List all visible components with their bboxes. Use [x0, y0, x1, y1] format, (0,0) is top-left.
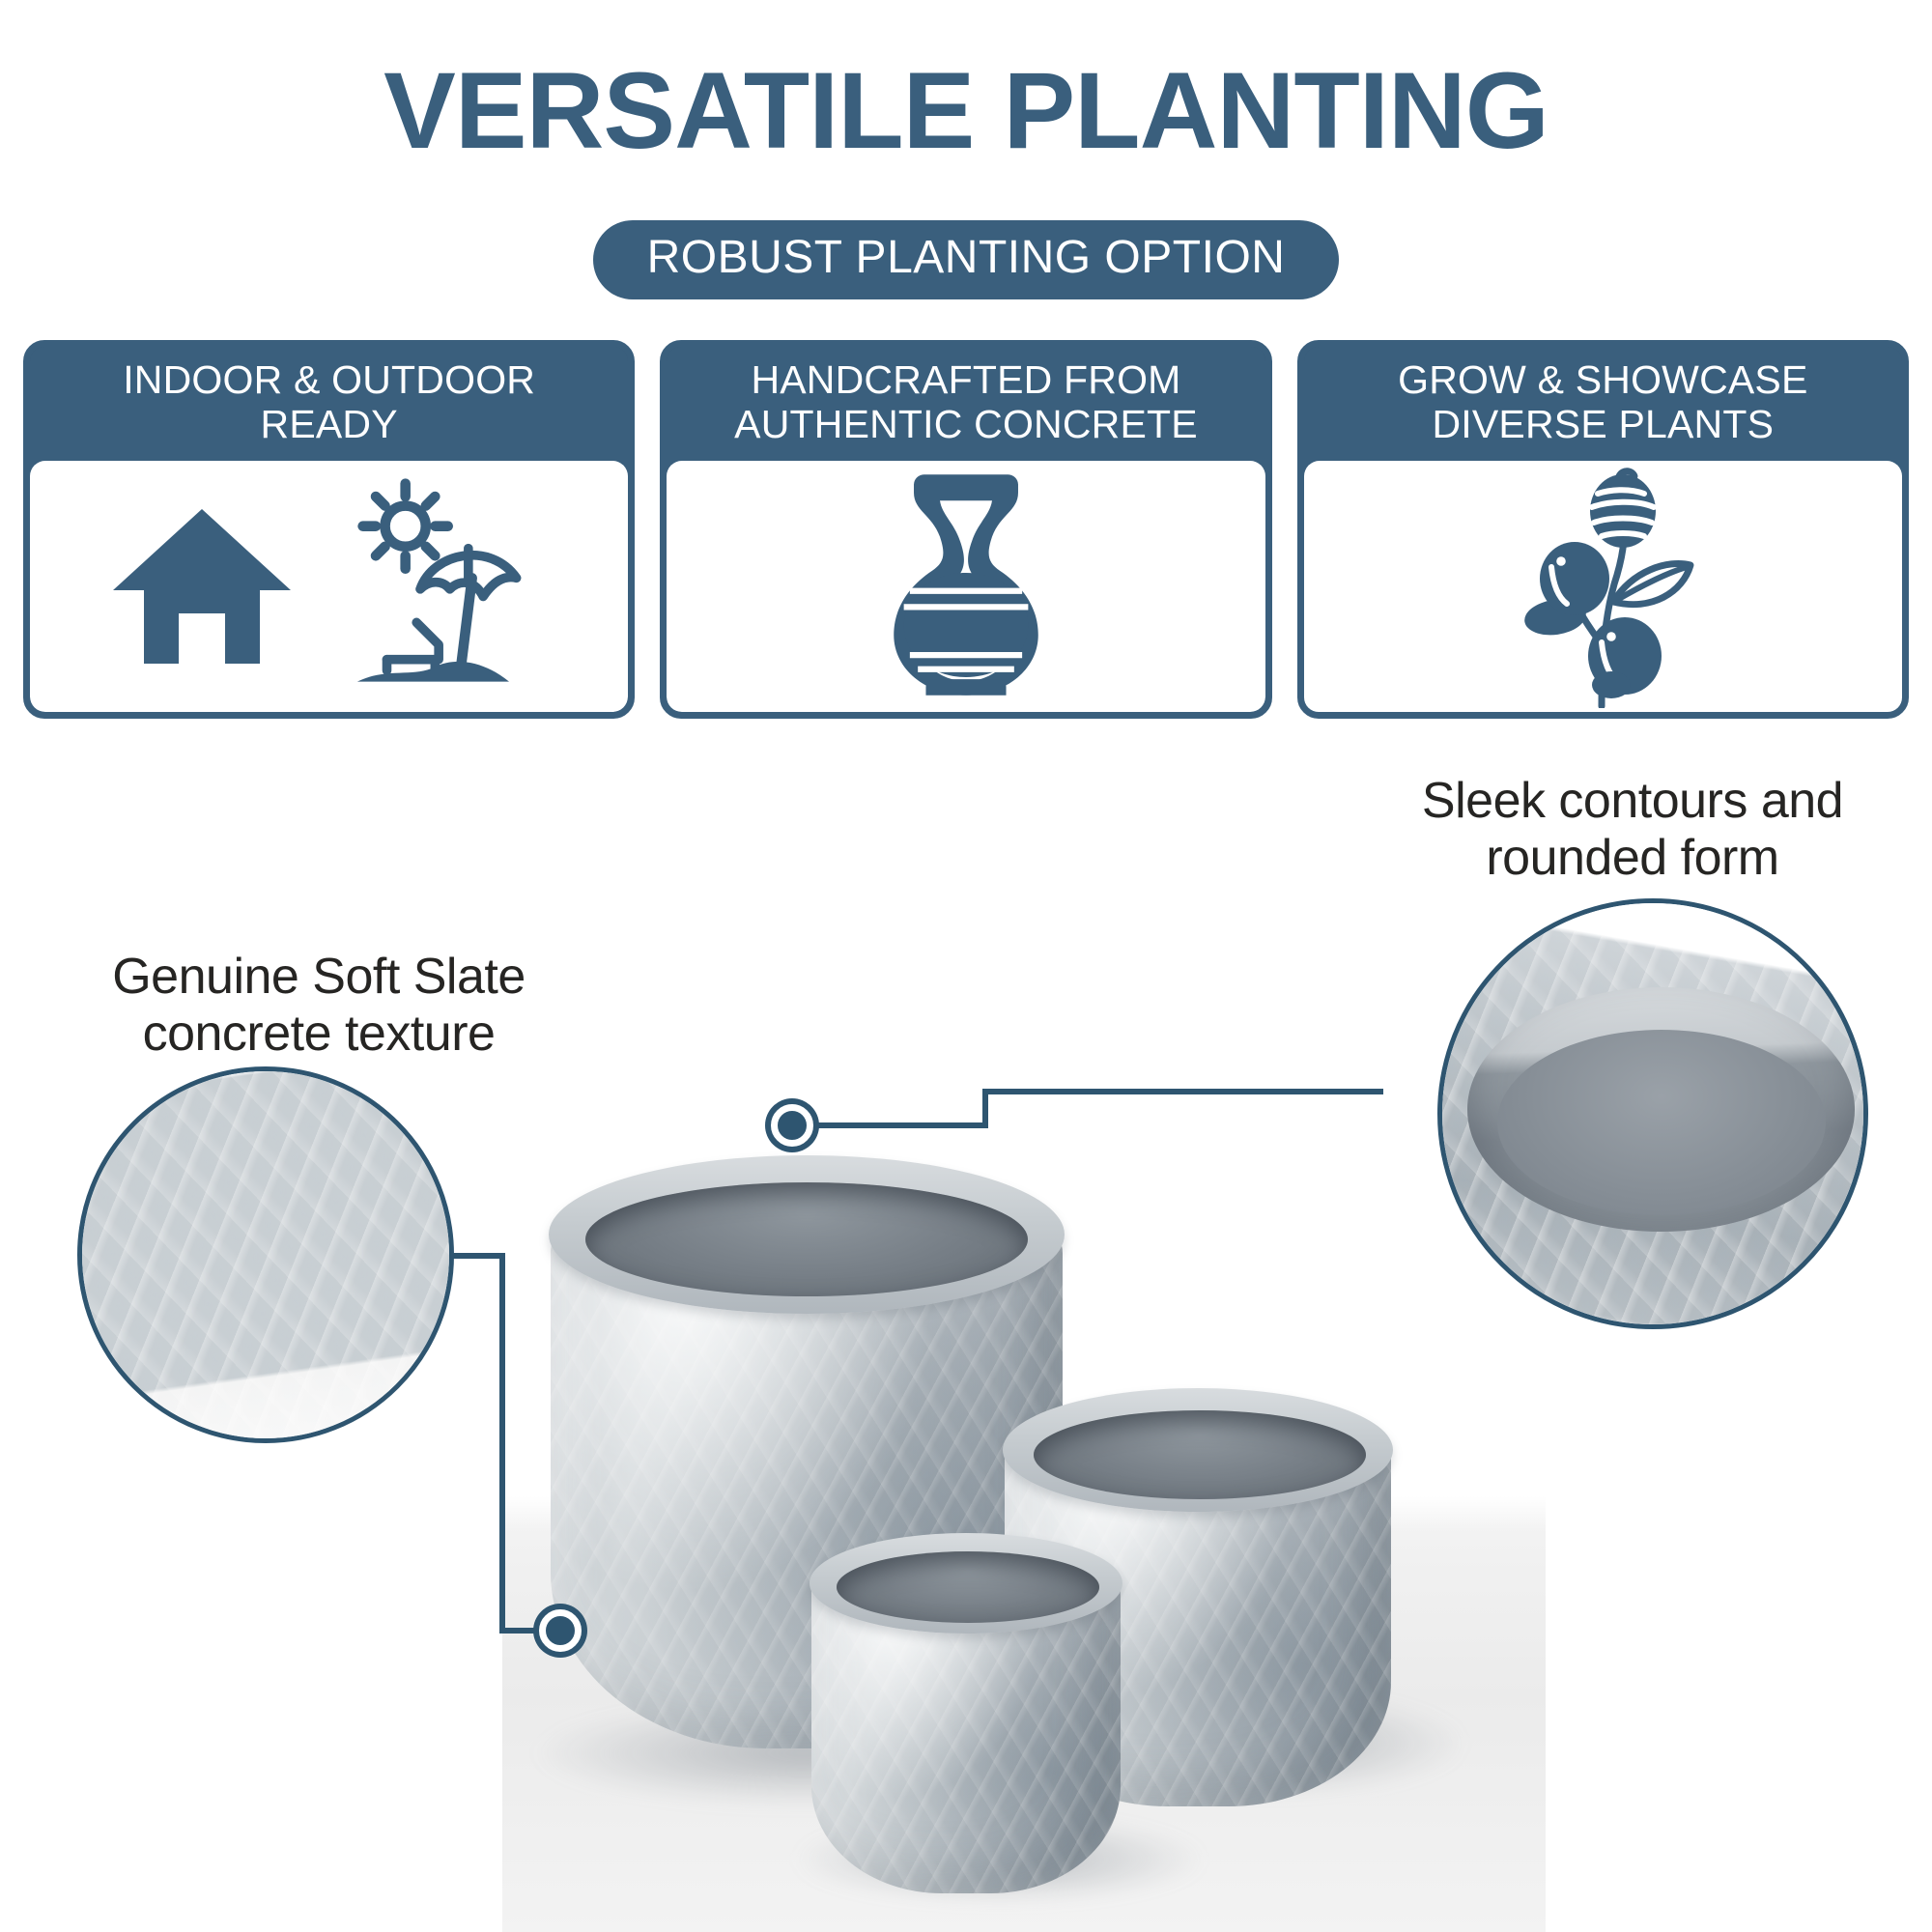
feature-title-line2: AUTHENTIC CONCRETE: [676, 403, 1255, 447]
feature-box-diverse-plants: GROW & SHOWCASE DIVERSE PLANTS: [1297, 340, 1909, 719]
feature-box-body: [1304, 461, 1902, 716]
feature-title-line2: READY: [40, 403, 618, 447]
feature-title-line2: DIVERSE PLANTS: [1314, 403, 1892, 447]
planter-small: [811, 1536, 1121, 1893]
callout-label-contour: Sleek contours and rounded form: [1352, 773, 1913, 888]
feature-box-header: INDOOR & OUTDOOR READY: [30, 347, 628, 461]
callout-label-texture-line1: Genuine Soft Slate: [68, 949, 570, 1006]
beach-umbrella-icon: [331, 474, 554, 696]
feature-box-header: GROW & SHOWCASE DIVERSE PLANTS: [1304, 347, 1902, 461]
berry-sprig-icon: [1501, 467, 1704, 708]
page-title: VERSATILE PLANTING: [0, 56, 1932, 166]
callout-zoom-texture: [77, 1066, 454, 1443]
vase-icon: [865, 467, 1067, 703]
infographic-page: VERSATILE PLANTING ROBUST PLANTING OPTIO…: [0, 0, 1932, 1932]
callout-dot-texture[interactable]: [539, 1609, 582, 1652]
feature-box-indoor-outdoor: INDOOR & OUTDOOR READY: [23, 340, 635, 719]
feature-box-body: [667, 461, 1264, 712]
feature-box-header: HANDCRAFTED FROM AUTHENTIC CONCRETE: [667, 347, 1264, 461]
feature-box-authentic-concrete: HANDCRAFTED FROM AUTHENTIC CONCRETE: [660, 340, 1271, 719]
feature-box-row: INDOOR & OUTDOOR READY: [23, 340, 1909, 719]
callout-dot-contour[interactable]: [771, 1104, 813, 1147]
callout-label-texture-line2: concrete texture: [68, 1006, 570, 1063]
callout-label-contour-line2: rounded form: [1352, 830, 1913, 887]
feature-box-body: [30, 461, 628, 712]
callout-label-texture: Genuine Soft Slate concrete texture: [68, 949, 570, 1064]
feature-title-line1: GROW & SHOWCASE: [1314, 358, 1892, 403]
badge-container: ROBUST PLANTING OPTION: [0, 220, 1932, 299]
house-icon: [105, 494, 298, 677]
callout-label-contour-line1: Sleek contours and: [1352, 773, 1913, 830]
callout-zoom-contour: [1437, 898, 1868, 1329]
feature-title-line1: INDOOR & OUTDOOR: [40, 358, 618, 403]
product-photo: [502, 1024, 1546, 1932]
feature-title-line1: HANDCRAFTED FROM: [676, 358, 1255, 403]
status-badge: ROBUST PLANTING OPTION: [593, 220, 1340, 299]
